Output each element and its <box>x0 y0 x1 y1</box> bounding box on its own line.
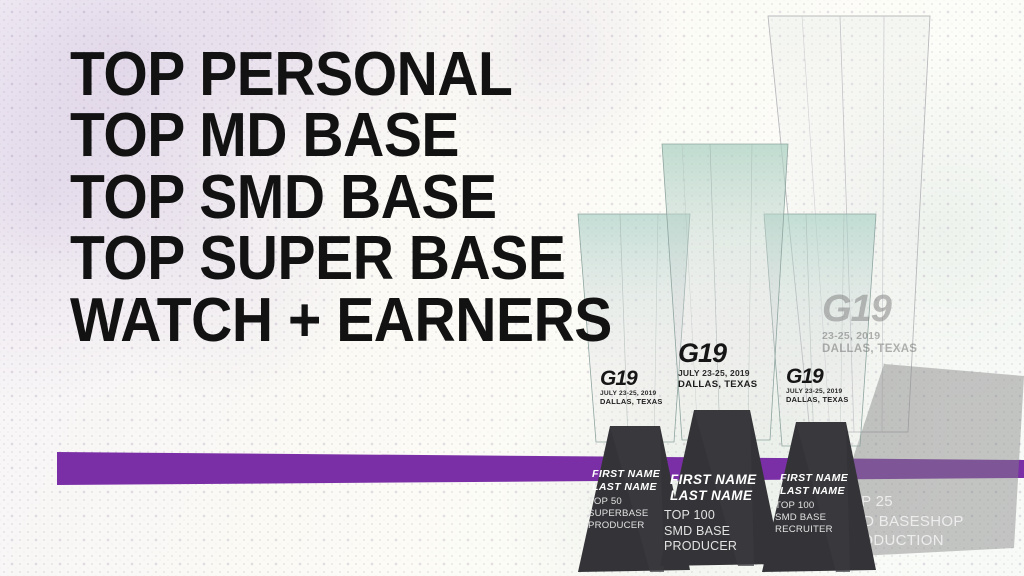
headline-line-5: WATCH + EARNERS <box>70 290 612 351</box>
headline-line-1: TOP PERSONAL <box>70 44 612 105</box>
page-title: TOP PERSONAL TOP MD BASE TOP SMD BASE TO… <box>70 44 612 351</box>
trophy-smd-base-producer-glass <box>648 142 798 442</box>
headline-line-3: TOP SMD BASE <box>70 167 612 228</box>
trophy-smd-base-producer-base <box>654 408 790 568</box>
headline-line-4: TOP SUPER BASE <box>70 228 612 289</box>
slide-canvas: G19 23-25, 2019 DALLAS, TEXAS TOP 25 SMD… <box>0 0 1024 576</box>
headline-line-2: TOP MD BASE <box>70 105 612 166</box>
